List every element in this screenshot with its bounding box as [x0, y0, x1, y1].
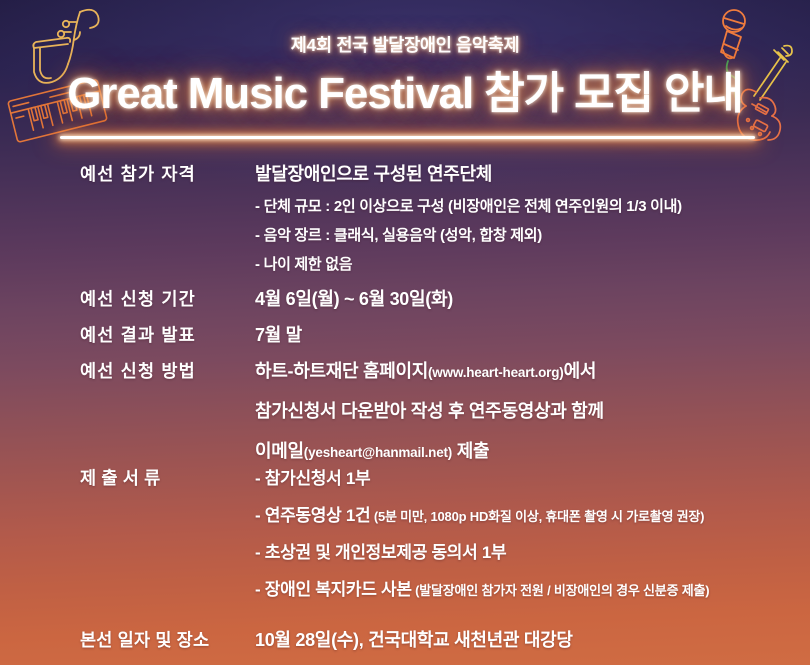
section-value: 4월 6일(월) ~ 6월 30일(화)	[255, 285, 453, 311]
bullet-item: - 나이 제한 없음	[255, 253, 352, 274]
document-item: - 초상권 및 개인정보제공 동의서 1부	[255, 538, 506, 563]
homepage-text: 하트-하트재단 홈페이지	[255, 361, 428, 381]
festival-poster: 제4회 전국 발달장애인 음악축제 Great Music Festival 참…	[0, 0, 810, 665]
section-label: 예선 신청 방법	[80, 358, 240, 383]
document-main: - 참가신청서 1부	[255, 469, 370, 488]
document-note: (발달장애인 참가자 전원 / 비장애인의 경우 신분증 제출)	[412, 583, 710, 598]
email-address: (yesheart@hanmail.net)	[304, 445, 452, 460]
section-value: 발달장애인으로 구성된 연주단체	[255, 160, 492, 186]
bullet-item: - 단체 규모 : 2인 이상으로 구성 (비장애인은 전체 연주인원의 1/3…	[255, 195, 682, 216]
poster-subtitle: 제4회 전국 발달장애인 음악축제	[0, 32, 810, 57]
divider	[60, 132, 755, 144]
section-label: 예선 신청 기간	[80, 286, 240, 311]
homepage-url: (www.heart-heart.org)	[428, 365, 564, 380]
bullet-item: - 음악 장르 : 클래식, 실용음악 (성악, 합창 제외)	[255, 224, 542, 245]
section-value-line3: 이메일(yesheart@hanmail.net) 제출	[255, 437, 489, 463]
section-value: 7월 말	[255, 321, 302, 347]
section-label: 제 출 서 류	[80, 465, 240, 490]
section-value-line1: 하트-하트재단 홈페이지(www.heart-heart.org)에서	[255, 357, 596, 383]
document-main: - 초상권 및 개인정보제공 동의서 1부	[255, 543, 506, 562]
section-label: 예선 참가 자격	[80, 161, 240, 186]
email-label: 이메일	[255, 441, 304, 461]
section-value: 10월 28일(수), 건국대학교 새천년관 대강당	[255, 626, 573, 652]
document-main: - 장애인 복지카드 사본	[255, 580, 412, 599]
document-item: - 참가신청서 1부	[255, 464, 370, 489]
homepage-suffix: 에서	[564, 361, 597, 381]
section-label: 본선 일자 및 장소	[80, 627, 240, 652]
document-item: - 연주동영상 1건 (5분 미만, 1080p HD화질 이상, 휴대폰 촬영…	[255, 501, 704, 526]
section-label: 예선 결과 발표	[80, 322, 240, 347]
document-main: - 연주동영상 1건	[255, 506, 370, 525]
document-item: - 장애인 복지카드 사본 (발달장애인 참가자 전원 / 비장애인의 경우 신…	[255, 575, 709, 600]
poster-title: Great Music Festival 참가 모집 안내	[0, 57, 810, 121]
document-note: (5분 미만, 1080p HD화질 이상, 휴대폰 촬영 시 가로촬영 권장)	[370, 509, 704, 524]
section-value-line2: 참가신청서 다운받아 작성 후 연주동영상과 함께	[255, 397, 604, 423]
email-suffix: 제출	[452, 441, 489, 461]
